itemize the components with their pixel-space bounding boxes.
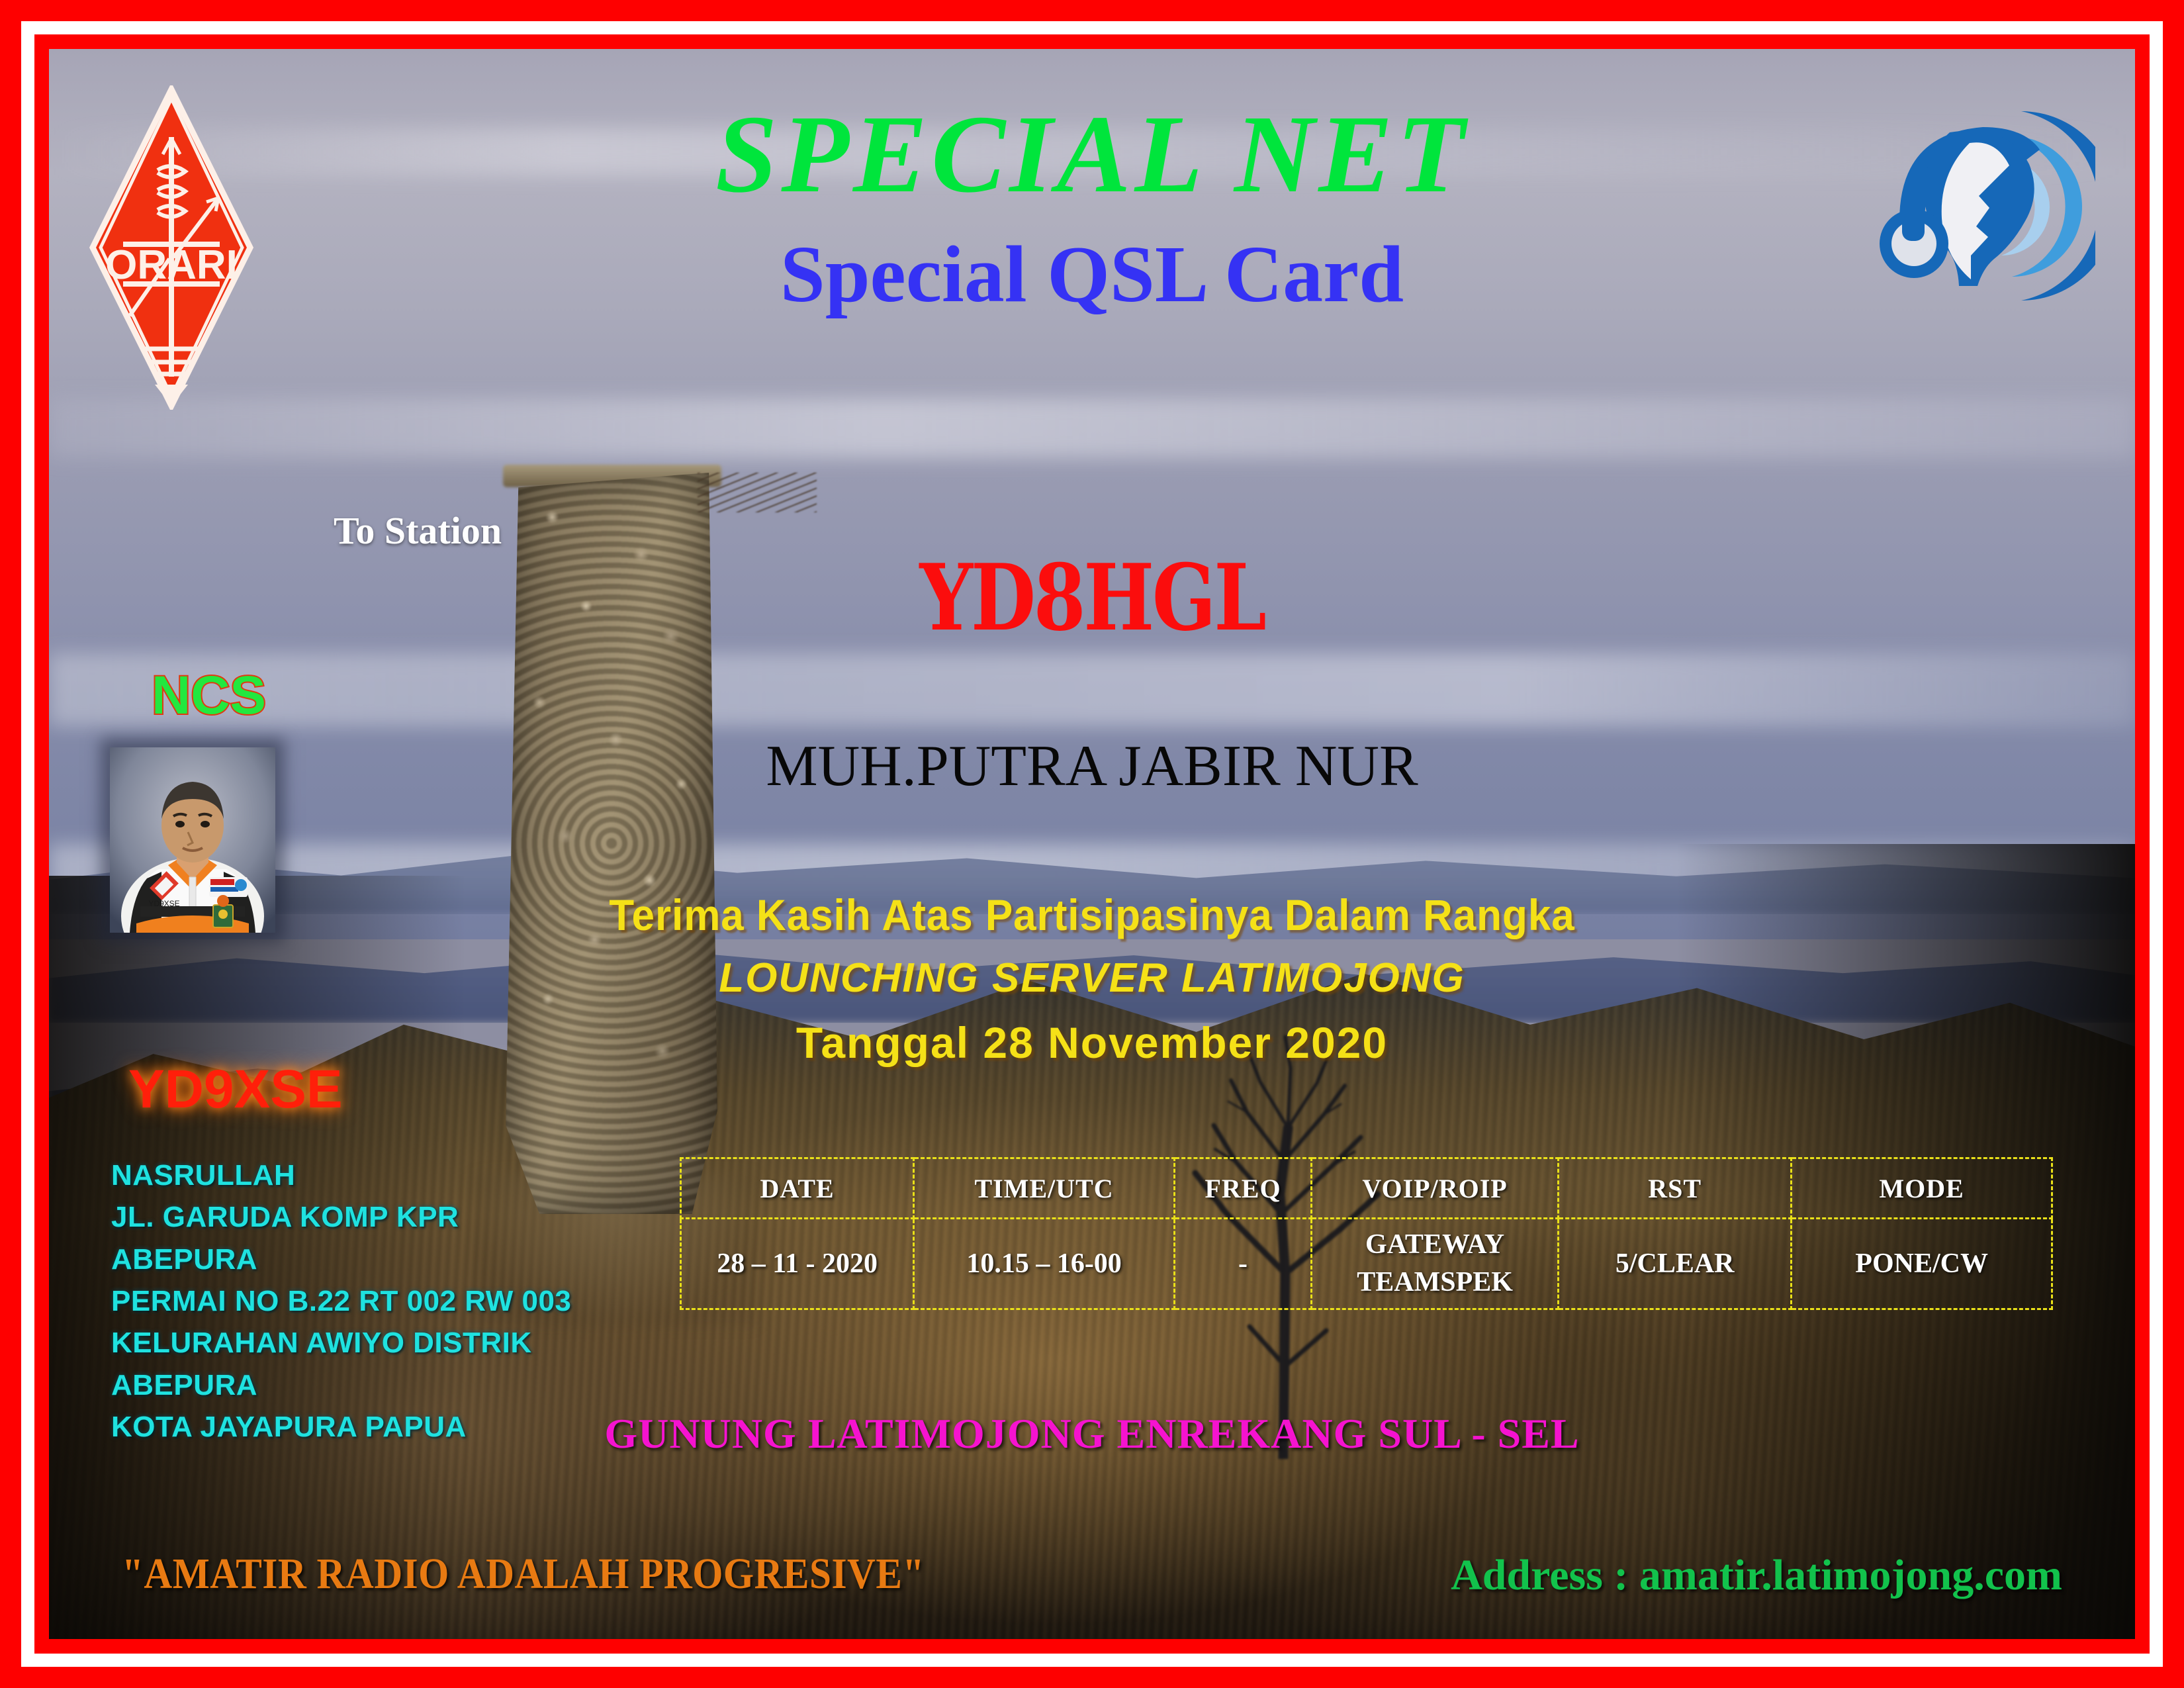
address-line: ABEPURA [111,1239,571,1280]
cell-freq: - [1174,1219,1311,1309]
ncs-callsign: YD9XSE [128,1058,343,1121]
cell-voip-roip-line2: TEAMSPEK [1313,1264,1557,1301]
address-line: PERMAI NO B.22 RT 002 RW 003 [111,1280,571,1322]
footer-address: Address : amatir.latimojong.com [1451,1550,2062,1601]
address-line: NASRULLAH [111,1154,571,1196]
cell-mode: PONE/CW [1792,1219,2052,1309]
table-header-row: DATE TIME/UTC FREQ VOIP/ROIP RST MODE [681,1158,2052,1219]
to-station-label: To Station [334,508,502,553]
address-line: JL. GARUDA KOMP KPR [111,1196,571,1238]
thanks-block: Terima Kasih Atas Partisipasinya Dalam R… [49,890,2135,1068]
ncs-label: NCS [152,665,266,727]
col-header-rst: RST [1559,1158,1792,1219]
page-title-special-net: SPECIAL NET [49,99,2135,210]
cell-rst: 5/CLEAR [1559,1219,1792,1309]
recipient-operator-name: MUH.PUTRA JABIR NUR [49,737,2135,796]
card-content: ORARI SPECIAL NET Special QSL Card To St… [49,49,2135,1639]
col-header-voip-roip: VOIP/ROIP [1312,1158,1559,1219]
col-header-time: TIME/UTC [914,1158,1175,1219]
thanks-line-3: Tanggal 28 November 2020 [49,1017,2135,1068]
thanks-line-2: LOUNCHING SERVER LATIMOJONG [49,955,2135,1002]
table-row: 28 – 11 - 2020 10.15 – 16-00 - GATEWAY T… [681,1219,2052,1309]
cell-voip-roip-line1: GATEWAY [1313,1226,1557,1264]
col-header-mode: MODE [1792,1158,2052,1219]
cell-time: 10.15 – 16-00 [914,1219,1175,1309]
ncs-operator-photo: YD9XSE [110,747,275,933]
thanks-line-1: Terima Kasih Atas Partisipasinya Dalam R… [112,890,2073,940]
address-line: KELURAHAN AWIYO DISTRIK [111,1322,571,1364]
address-line: ABEPURA [111,1364,571,1406]
qsl-card: ORARI SPECIAL NET Special QSL Card To St… [0,0,2184,1688]
svg-text:YD9XSE: YD9XSE [148,899,179,908]
col-header-date: DATE [681,1158,914,1219]
footer-motto: "AMATIR RADIO ADALAH PROGRESIVE" [122,1549,925,1599]
col-header-freq: FREQ [1174,1158,1311,1219]
cell-voip-roip: GATEWAY TEAMSPEK [1312,1219,1559,1309]
page-subtitle-qsl-card: Special QSL Card [49,234,2135,315]
location-label: GUNUNG LATIMOJONG ENREKANG SUL - SEL [49,1409,2135,1458]
qso-log-table: DATE TIME/UTC FREQ VOIP/ROIP RST MODE 28… [680,1157,2053,1310]
recipient-callsign: YD8HGL [237,552,1948,643]
sender-address-block: NASRULLAH JL. GARUDA KOMP KPR ABEPURA PE… [111,1154,571,1448]
cell-date: 28 – 11 - 2020 [681,1219,914,1309]
